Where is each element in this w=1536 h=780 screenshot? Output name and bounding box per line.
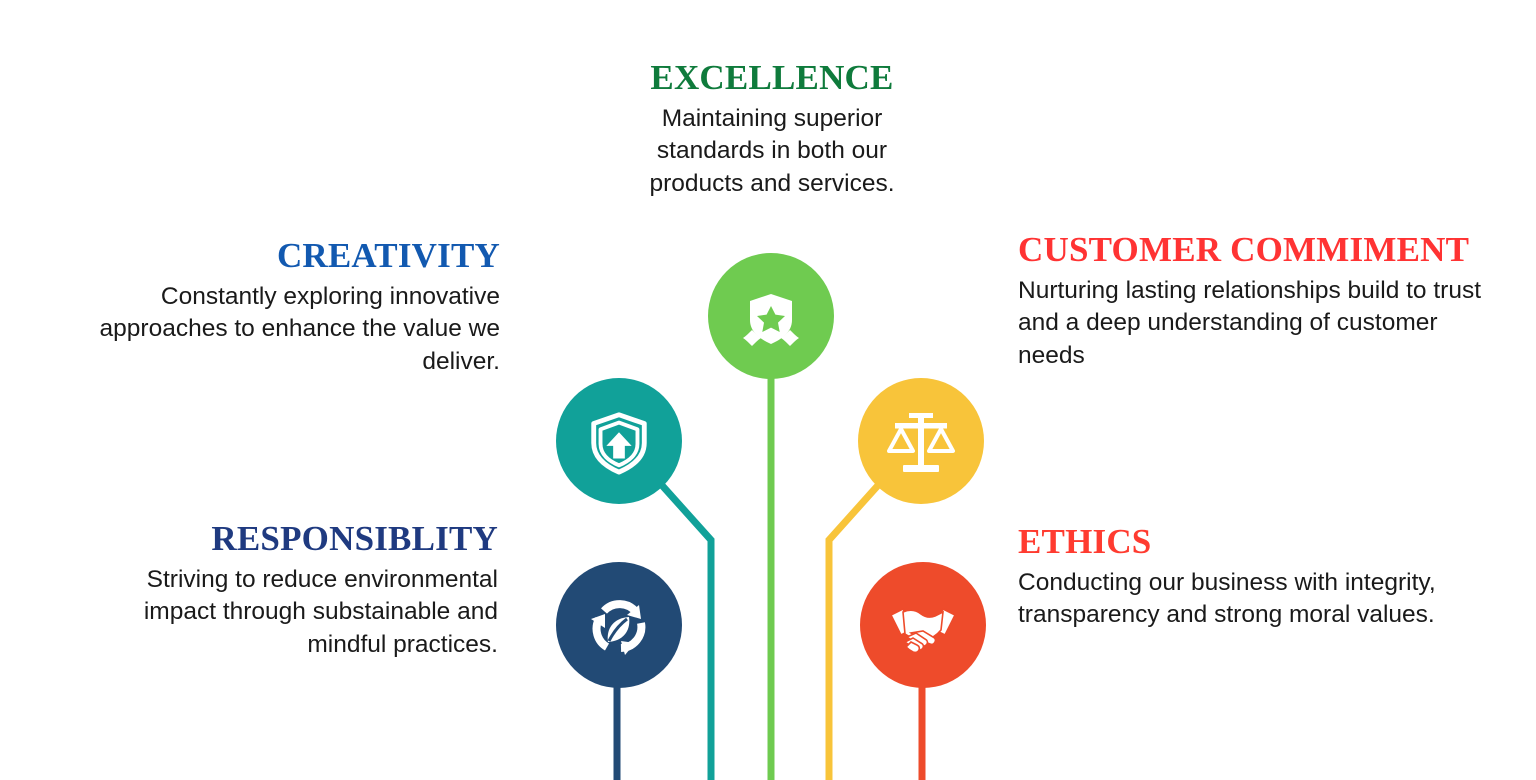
shield-star-sparkle-icon: [735, 280, 807, 352]
node-responsibility[interactable]: [556, 562, 682, 688]
body-ethics: Conducting our business with integrity, …: [1018, 567, 1438, 632]
body-excellence: Maintaining superior standards in both o…: [612, 103, 932, 201]
text-block-creativity: CREATIVITY Constantly exploring innovati…: [60, 238, 500, 378]
body-responsibility: Striving to reduce environmental impact …: [78, 564, 498, 662]
heading-ethics: ETHICS: [1018, 524, 1438, 561]
balance-scales-icon: [883, 403, 959, 479]
body-customer-commitment: Nurturing lasting relationships build to…: [1018, 275, 1488, 373]
text-block-excellence: EXCELLENCE Maintaining superior standard…: [612, 60, 932, 200]
heading-customer-commitment: CUSTOMER COMMIMENT: [1018, 232, 1488, 269]
handshake-icon: [883, 585, 963, 665]
node-ethics[interactable]: [860, 562, 986, 688]
shield-up-arrow-icon: [584, 406, 654, 476]
node-excellence[interactable]: [708, 253, 834, 379]
node-creativity[interactable]: [556, 378, 682, 504]
body-creativity: Constantly exploring innovative approach…: [60, 281, 500, 379]
node-customer-commitment[interactable]: [858, 378, 984, 504]
text-block-ethics: ETHICS Conducting our business with inte…: [1018, 524, 1438, 632]
heading-responsibility: RESPONSIBLITY: [78, 521, 498, 558]
heading-creativity: CREATIVITY: [60, 238, 500, 275]
text-block-responsibility: RESPONSIBLITY Striving to reduce environ…: [78, 521, 498, 661]
text-block-customer-commitment: CUSTOMER COMMIMENT Nurturing lasting rel…: [1018, 232, 1488, 372]
infographic-canvas: EXCELLENCE Maintaining superior standard…: [0, 0, 1536, 780]
heading-excellence: EXCELLENCE: [612, 60, 932, 97]
recycle-leaf-icon: [581, 587, 657, 663]
